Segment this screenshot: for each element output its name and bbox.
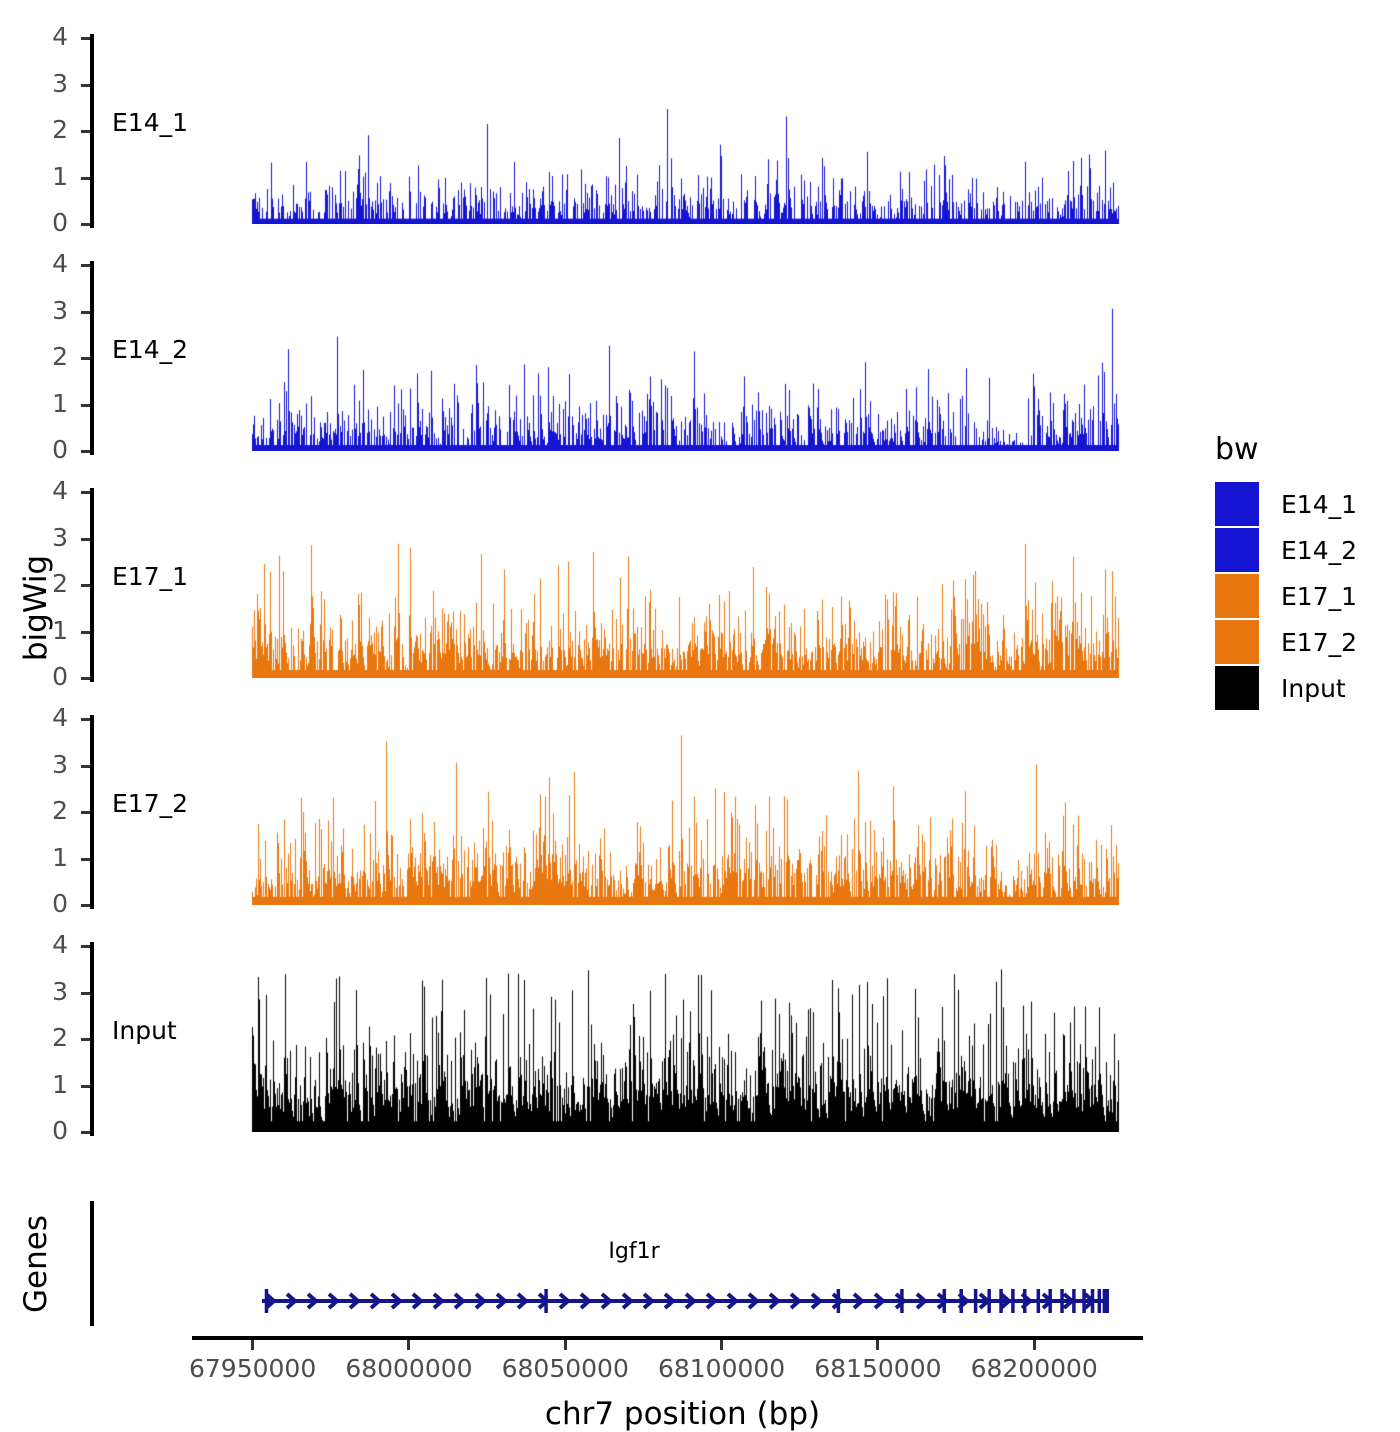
gene-exon-mark <box>1011 1289 1015 1313</box>
legend-swatch-e14_2 <box>1215 528 1259 572</box>
figure-root: bigWig Genes 01234E14_101234E14_201234E1… <box>0 0 1400 1400</box>
x-tick-label: 67950000 <box>189 1354 316 1383</box>
gene-exon-mark <box>1098 1289 1102 1313</box>
gene-exon-mark <box>987 1289 991 1313</box>
gene-exon-mark <box>1103 1289 1107 1313</box>
gene-exon-mark <box>265 1289 269 1313</box>
legend-label-e14_1: E14_1 <box>1281 490 1357 519</box>
legend-swatch-e17_2 <box>1215 620 1259 664</box>
x-tick <box>876 1340 879 1350</box>
legend: bw E14_1E14_2E17_1E17_2Input <box>1215 432 1357 711</box>
legend-items: E14_1E14_2E17_1E17_2Input <box>1215 481 1357 711</box>
legend-title: bw <box>1215 432 1357 467</box>
legend-swatch-e17_1 <box>1215 574 1259 618</box>
gene-exon-mark <box>974 1289 978 1313</box>
gene-name-label: Igf1r <box>608 1239 659 1264</box>
gene-track-panel: Igf1r <box>0 0 1400 1400</box>
gene-exon-mark <box>999 1289 1003 1313</box>
x-tick <box>1033 1340 1036 1350</box>
genes-axis-line <box>90 1201 94 1326</box>
x-tick-label: 68100000 <box>658 1354 785 1383</box>
gene-exon-mark <box>1072 1289 1076 1313</box>
gene-exon-mark <box>837 1289 841 1313</box>
legend-label-input: Input <box>1281 674 1346 703</box>
legend-label-e17_1: E17_1 <box>1281 582 1357 611</box>
gene-exon-mark <box>959 1289 963 1313</box>
x-tick <box>251 1340 254 1350</box>
x-tick-label: 68000000 <box>345 1354 472 1383</box>
gene-exon-mark <box>900 1289 904 1313</box>
x-tick-label: 68200000 <box>971 1354 1098 1383</box>
gene-exon-mark <box>1106 1289 1109 1313</box>
gene-exon-mark <box>943 1289 947 1313</box>
gene-exon-mark <box>1037 1289 1041 1313</box>
x-tick-label: 68150000 <box>814 1354 941 1383</box>
x-tick-label: 68050000 <box>502 1354 629 1383</box>
x-tick <box>564 1340 567 1350</box>
gene-exon-mark <box>544 1289 548 1313</box>
gene-model-igf1r[interactable] <box>262 1284 1109 1318</box>
gene-exon-mark <box>1048 1289 1052 1313</box>
legend-item-e17_1[interactable]: E17_1 <box>1215 573 1357 619</box>
x-axis-title: chr7 position (bp) <box>545 1396 820 1432</box>
gene-exon-mark <box>1023 1289 1027 1313</box>
legend-item-e14_2[interactable]: E14_2 <box>1215 527 1357 573</box>
legend-swatch-input <box>1215 666 1259 710</box>
x-axis-line <box>192 1336 1143 1340</box>
gene-exon-mark <box>1091 1289 1095 1313</box>
legend-item-input[interactable]: Input <box>1215 665 1357 711</box>
legend-label-e17_2: E17_2 <box>1281 628 1357 657</box>
legend-swatch-e14_1 <box>1215 482 1259 526</box>
x-tick <box>720 1340 723 1350</box>
legend-item-e14_1[interactable]: E14_1 <box>1215 481 1357 527</box>
legend-item-e17_2[interactable]: E17_2 <box>1215 619 1357 665</box>
gene-exon-mark <box>1060 1289 1064 1313</box>
x-tick <box>407 1340 410 1350</box>
gene-exon-mark <box>1082 1289 1086 1313</box>
legend-label-e14_2: E14_2 <box>1281 536 1357 565</box>
